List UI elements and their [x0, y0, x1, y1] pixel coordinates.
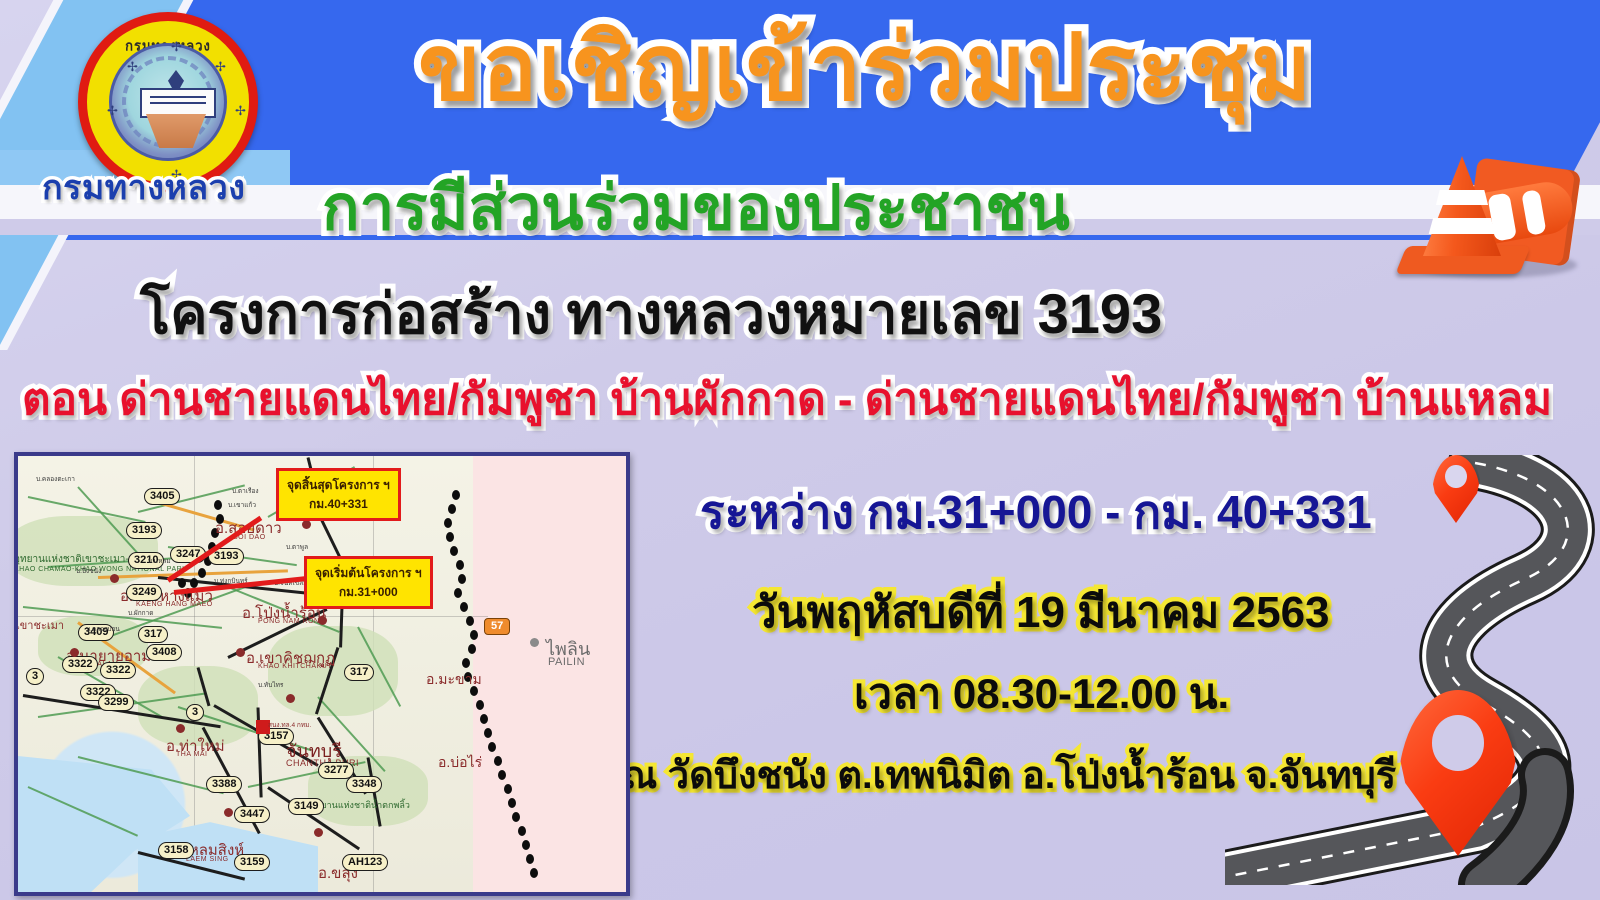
- seal-ornament-icon: ✢: [215, 61, 226, 72]
- map-city-marker: [110, 574, 119, 583]
- map-border-marker: [484, 728, 492, 738]
- map-border-marker: [480, 714, 488, 724]
- map-village-label: บ.คลองบอน: [86, 624, 120, 634]
- callout-start-line1: จุดเริ่มต้นโครงการ ฯ: [315, 564, 422, 583]
- map-district-label-en: THA MAI: [176, 751, 208, 758]
- map-border-marker: [522, 840, 530, 850]
- seal-ornament-icon: ✢: [235, 105, 246, 116]
- map-border-marker: [526, 854, 534, 864]
- map-border-marker: [498, 770, 506, 780]
- callout-end-line1: จุดสิ้นสุดโครงการ ฯ: [287, 476, 390, 495]
- map-route-shield: 3: [186, 704, 204, 721]
- cone-stripe: [1521, 189, 1546, 235]
- map-border-marker: [214, 500, 222, 510]
- project-section: ตอน ด่านชายแดนไทย/กัมพูชา บ้านผักกาด - ด…: [22, 378, 1552, 422]
- seal-ornament-icon: ✢: [171, 41, 182, 52]
- map-border-marker: [466, 616, 474, 626]
- map-border-marker: [198, 568, 206, 578]
- map-route-shield: 3158: [158, 842, 194, 859]
- cone-stripe: [1425, 218, 1499, 234]
- map-national-park-label: อุทยานแห่งชาติน้ำตกพลิ้ว: [310, 798, 410, 812]
- map-route-shield: 317: [344, 664, 374, 681]
- map-route-shield: 3348: [346, 776, 382, 793]
- map-route-shield: 3405: [144, 488, 180, 505]
- map-district-label-en: KHAO KHITCHAKUT: [258, 663, 332, 670]
- map-border-marker: [458, 574, 466, 584]
- map-district-label: อ.มะขาม: [426, 669, 482, 691]
- callout-start-line2: กม.31+000: [315, 583, 422, 602]
- map-village-label: บ.ทับไทร: [258, 680, 283, 690]
- map-route-shield: 3159: [234, 854, 270, 871]
- map-border-marker: [518, 826, 526, 836]
- map-city-marker: [236, 648, 245, 657]
- map-pin-icon: [1432, 455, 1480, 523]
- map-route-shield: AH123: [342, 854, 388, 871]
- map-border-marker: [462, 658, 470, 668]
- map-route-shield: 3193: [126, 522, 162, 539]
- map-city-marker: [302, 520, 311, 529]
- map-border-marker: [444, 518, 452, 528]
- map-city-marker: [318, 616, 327, 625]
- map-village-label: บ.บึงชนัง: [76, 566, 101, 576]
- cone-stripe: [1431, 190, 1493, 205]
- map-route-shield: 3249: [126, 584, 162, 601]
- organization-name: กรมทางหลวง: [42, 160, 245, 214]
- map-border-marker: [470, 630, 478, 640]
- map-city-marker: [530, 638, 539, 647]
- map-city-marker: [286, 694, 295, 703]
- map-national-park-label: เขาชะเมา: [16, 616, 64, 634]
- map-city-marker: [314, 828, 323, 837]
- map-border-marker: [468, 644, 476, 654]
- map-border-marker: [488, 742, 496, 752]
- map-route-shield: 3322: [100, 662, 136, 679]
- map-route-shield: 3: [26, 668, 44, 685]
- project-title: โครงการก่อสร้าง ทางหลวงหมายเลข 3193: [140, 286, 1162, 342]
- headline-main: ขอเชิญเข้าร่วมประชุม: [418, 22, 1312, 114]
- map-border-marker: [476, 700, 484, 710]
- map-village-label: บ.ตาเรือง: [232, 486, 259, 496]
- map-district-label-en: LAEM SING: [186, 856, 229, 863]
- map-border-marker: [530, 868, 538, 878]
- map-border-marker: [504, 784, 512, 794]
- map-border-marker: [508, 798, 516, 808]
- map-office-label: สนง.ทล.4 กทม.: [268, 720, 311, 730]
- map-route-shield: 317: [138, 626, 168, 643]
- map-village-label: บ.คลองตะเกา: [36, 474, 75, 484]
- map-village-label: บ.ผักกาด: [128, 608, 153, 618]
- map-foreign-route-shield: 57: [484, 618, 510, 635]
- map-village-label: บ.แหลม: [148, 556, 171, 566]
- poster-canvas: กรมทางหลวง ✢ ✢ ✢ ✢ ✢ ✢ กรมทางหลวง ขอเชิญ…: [0, 0, 1600, 900]
- map-border-marker: [454, 588, 462, 598]
- map-district-label-en: PONG NAM RON: [258, 618, 320, 625]
- map-route-shield: 3447: [234, 806, 270, 823]
- seal-ornament-icon: ✢: [107, 105, 118, 116]
- map-pin-icon: [1398, 690, 1518, 856]
- meeting-time: เวลา 08.30-12.00 น.: [854, 673, 1229, 715]
- map-village-label: บ.ตาพูล: [286, 542, 308, 552]
- map-village-label: บ.เขาแก้ว: [228, 500, 256, 510]
- map-border-marker: [452, 490, 460, 500]
- map-border-marker: [446, 532, 454, 542]
- headline-subtitle: การมีส่วนร่วมของประชาชน: [322, 178, 1070, 240]
- map-district-label: อ.บ่อไร่: [438, 752, 482, 774]
- map-border-marker: [450, 546, 458, 556]
- map-callout-end: จุดสิ้นสุดโครงการ ฯ กม.40+331: [276, 468, 401, 521]
- map-callout-start: จุดเริ่มต้นโครงการ ฯ กม.31+000: [304, 556, 433, 609]
- map-city-marker: [70, 648, 79, 657]
- project-location-map[interactable]: อ.สอยดาว SOI DAO อ.แก่งหางแมว KAENG HANG…: [14, 452, 630, 896]
- map-border-marker: [512, 812, 520, 822]
- map-border-marker: [456, 560, 464, 570]
- map-border-marker: [448, 504, 456, 514]
- map-city-marker: [224, 808, 233, 817]
- map-cambodia-area: [473, 456, 628, 892]
- map-border-marker: [460, 602, 468, 612]
- map-route-shield: 3322: [62, 656, 98, 673]
- map-foreign-place-label-en: PAILIN: [548, 656, 585, 668]
- map-city-marker: [176, 724, 185, 733]
- traffic-cone-icon: [1395, 142, 1590, 292]
- map-district-label-en: KAENG HANG MAEO: [136, 601, 213, 608]
- bridge-icon: [140, 88, 216, 118]
- map-border-marker: [494, 756, 502, 766]
- seal-ornament-icon: ✢: [127, 61, 138, 72]
- pin-hole: [1445, 465, 1466, 488]
- map-route-shield: 3149: [288, 798, 324, 815]
- map-route-shield: 3388: [206, 776, 242, 793]
- map-route-shield: 3408: [146, 644, 182, 661]
- map-route-shield: 3299: [98, 694, 134, 711]
- callout-end-line2: กม.40+331: [287, 495, 390, 514]
